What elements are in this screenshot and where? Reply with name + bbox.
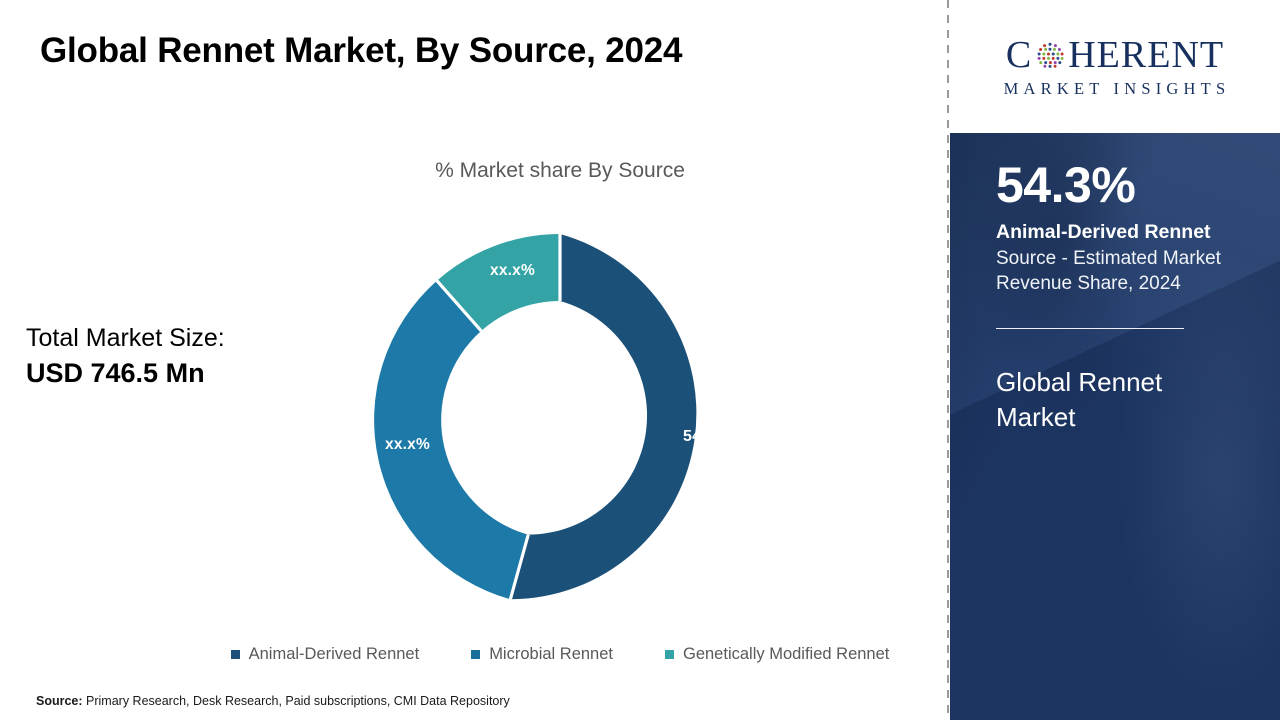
legend-item-genetically-modified[interactable]: Genetically Modified Rennet <box>665 645 889 664</box>
brand-logo-letter-c: C <box>1006 36 1032 74</box>
brand-logo: C <box>950 1 1280 133</box>
chart-panel: Global Rennet Market, By Source, 2024 % … <box>0 0 948 720</box>
slice-label-animal-derived: 54.3% <box>683 428 729 446</box>
divider-rule <box>996 328 1184 330</box>
brand-logo-tagline: MARKET INSIGHTS <box>1000 79 1231 99</box>
brand-logo-letters-herent: HERENT <box>1068 36 1224 74</box>
report-name: Global Rennet Market <box>996 365 1232 434</box>
legend-label: Microbial Rennet <box>489 645 613 664</box>
page-title: Global Rennet Market, By Source, 2024 <box>40 31 682 71</box>
slice-label-microbial: xx.x% <box>385 436 430 454</box>
legend-label: Genetically Modified Rennet <box>683 645 889 664</box>
legend-item-microbial[interactable]: Microbial Rennet <box>471 645 613 664</box>
footer-source-text: Primary Research, Desk Research, Paid su… <box>83 694 510 708</box>
infographic-root: Global Rennet Market, By Source, 2024 % … <box>0 0 1280 720</box>
side-panel-content: 54.3% Animal-Derived Rennet Source - Est… <box>950 160 1280 434</box>
legend-swatch-icon <box>231 650 240 659</box>
total-market-size-block: Total Market Size: USD 746.5 Mn <box>26 322 225 391</box>
total-market-size-label: Total Market Size: <box>26 322 225 354</box>
side-panel: 54.3% Animal-Derived Rennet Source - Est… <box>950 133 1280 720</box>
footer-source: Source: Primary Research, Desk Research,… <box>36 694 510 708</box>
globe-icon <box>1033 38 1067 72</box>
panel-divider <box>947 0 949 720</box>
footer-source-label: Source: <box>36 694 83 708</box>
legend-swatch-icon <box>665 650 674 659</box>
brand-logo-wordmark: C <box>1006 36 1224 74</box>
slice-label-genetically-modified: xx.x% <box>490 262 535 280</box>
donut-chart-svg <box>371 231 749 609</box>
stat-value: 54.3% <box>996 160 1280 211</box>
stat-subtext: Source - Estimated Market Revenue Share,… <box>996 246 1268 296</box>
total-market-size-value: USD 746.5 Mn <box>26 356 225 391</box>
legend-label: Animal-Derived Rennet <box>249 645 420 664</box>
donut-chart <box>371 231 749 609</box>
legend-swatch-icon <box>471 650 480 659</box>
stat-headline: Animal-Derived Rennet <box>996 220 1280 244</box>
legend-item-animal-derived[interactable]: Animal-Derived Rennet <box>231 645 420 664</box>
